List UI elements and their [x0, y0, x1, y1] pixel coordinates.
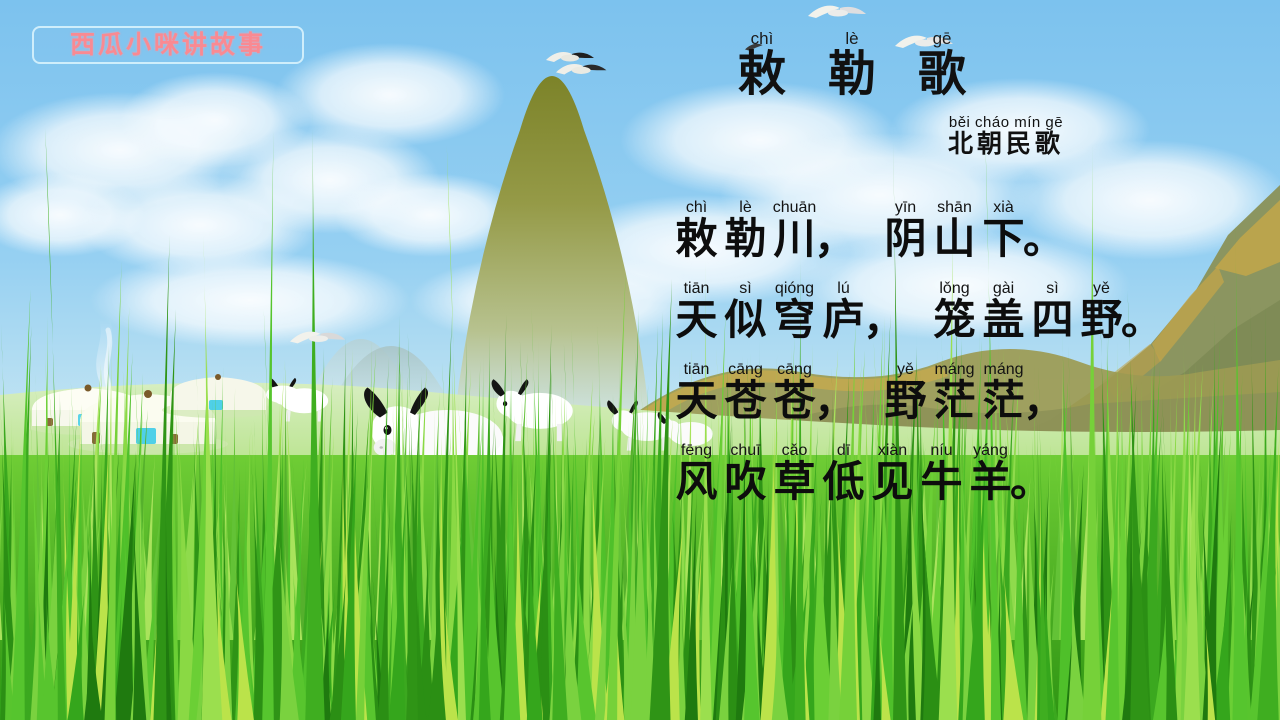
poem-char-pinyin: cāng [728, 361, 763, 380]
poem-char: chuī吹 [721, 442, 770, 505]
poem-punctuation: 。 [1126, 280, 1158, 343]
poem-char-hanzi: ， [814, 218, 856, 262]
poem-segment: tiān天cāng苍cāng苍， [672, 361, 851, 424]
poem-char-pinyin: chì [686, 199, 707, 218]
poem-char-pinyin: cāng [777, 361, 812, 380]
poem-panel: chì 敕 lè 勒 gē 歌 běi cháo mín gē 北朝民歌 chì… [660, 18, 1280, 518]
poem-title: chì 敕 lè 勒 gē 歌 [738, 30, 966, 100]
poem-char-hanzi: 见 [871, 461, 913, 505]
poem-char-pinyin: gài [993, 280, 1014, 299]
poem-char: cǎo草 [770, 442, 819, 505]
poem-char-pinyin: máng [983, 361, 1023, 380]
poem-punctuation: 。 [1028, 199, 1060, 262]
poem-line: fēng风chuī吹cǎo草dī低xiàn见níu牛yáng羊。 [672, 433, 1272, 505]
poem-char-hanzi: 茫 [933, 380, 975, 424]
poem-char-pinyin: qióng [775, 280, 814, 299]
poem-author: běi cháo mín gē 北朝民歌 [948, 114, 1064, 160]
poem-char-hanzi: 低 [822, 461, 864, 505]
poem-char: lǒng笼 [930, 280, 979, 343]
poem-char-pinyin: xià [993, 199, 1013, 218]
poem-char: xiàn见 [868, 442, 917, 505]
poem-segment: yě野máng茫máng茫， [881, 361, 1060, 424]
poem-char-hanzi: 苍 [724, 380, 766, 424]
poem-char-hanzi: 风 [675, 461, 717, 505]
poem-punctuation: ， [819, 199, 851, 262]
poem-char-hanzi: 似 [724, 299, 766, 343]
poem-char: yáng羊 [966, 442, 1015, 505]
poem-char-hanzi: 川 [773, 218, 815, 262]
title-char-pinyin: gē [933, 30, 952, 49]
poem-char: xià下 [979, 199, 1028, 262]
poem-char-hanzi: 庐 [822, 299, 864, 343]
poem-segment: tiān天sì似qióng穹lú庐， [672, 280, 900, 343]
poem-char-hanzi: 。 [1010, 461, 1052, 505]
poem-char: shān山 [930, 199, 979, 262]
poem-char: máng茫 [930, 361, 979, 424]
poem-char-hanzi: 下 [982, 218, 1024, 262]
poem-punctuation: ， [819, 361, 851, 424]
poem-char-pinyin: cǎo [782, 442, 808, 461]
poem-line: tiān天cāng苍cāng苍，yě野máng茫máng茫， [672, 352, 1272, 424]
poem-char-hanzi: 茫 [982, 380, 1024, 424]
poem-char-hanzi: 。 [1023, 218, 1065, 262]
poem-char: chì敕 [672, 199, 721, 262]
poem-char: cāng苍 [770, 361, 819, 424]
title-char-hanzi: 歌 [918, 50, 966, 100]
poem-line: tiān天sì似qióng穹lú庐，lǒng笼gài盖sì四yě野。 [672, 271, 1272, 343]
poem-char: chuān川 [770, 199, 819, 262]
poem-char: níu牛 [917, 442, 966, 505]
poem-char-pinyin: yīn [895, 199, 916, 218]
title-char: lè 勒 [828, 30, 876, 100]
channel-logo-badge[interactable]: 西瓜小咪讲故事 [32, 26, 304, 64]
poem-char: lè勒 [721, 199, 770, 262]
poem-char-pinyin: sì [1046, 280, 1058, 299]
poem-char-hanzi: 笼 [933, 299, 975, 343]
poem-punctuation: 。 [1015, 442, 1047, 505]
poem-char-pinyin: máng [934, 361, 974, 380]
poem-char: yīn阴 [881, 199, 930, 262]
poem-char: dī低 [819, 442, 868, 505]
poem-char: sì似 [721, 280, 770, 343]
poem-char-pinyin: lú [837, 280, 849, 299]
poem-char-hanzi: 天 [675, 380, 717, 424]
poem-segment: lǒng笼gài盖sì四yě野。 [930, 280, 1158, 343]
poem-char-pinyin: yáng [973, 442, 1008, 461]
poem-char: sì四 [1028, 280, 1077, 343]
poem-char-hanzi: 草 [773, 461, 815, 505]
poem-char-hanzi: 山 [933, 218, 975, 262]
poem-char-pinyin: lè [739, 199, 751, 218]
poem-char-hanzi: 敕 [675, 218, 717, 262]
poem-char: máng茫 [979, 361, 1028, 424]
video-frame: 西瓜小咪讲故事 chì 敕 lè 勒 gē 歌 běi cháo mín gē … [0, 0, 1280, 720]
title-char-pinyin: chì [751, 30, 774, 49]
poem-char-pinyin: níu [930, 442, 952, 461]
title-char-pinyin: lè [845, 30, 858, 49]
poem-char-hanzi: 野 [1080, 299, 1122, 343]
poem-char-hanzi: 。 [1121, 299, 1163, 343]
poem-punctuation: ， [868, 280, 900, 343]
poem-char: fēng风 [672, 442, 721, 505]
poem-char: gài盖 [979, 280, 1028, 343]
poem-body: chì敕lè勒chuān川，yīn阴shān山xià下。tiān天sì似qión… [672, 190, 1272, 514]
poem-char-hanzi: 苍 [773, 380, 815, 424]
poem-char: cāng苍 [721, 361, 770, 424]
poem-char: yě野 [881, 361, 930, 424]
author-hanzi: 北朝民歌 [948, 131, 1064, 160]
poem-char-hanzi: 阴 [884, 218, 926, 262]
poem-char-pinyin: sì [739, 280, 751, 299]
poem-char-pinyin: dī [837, 442, 850, 461]
author-pinyin: běi cháo mín gē [948, 114, 1064, 131]
poem-char-hanzi: 四 [1031, 299, 1073, 343]
poem-char-pinyin: yě [897, 361, 914, 380]
poem-char: qióng穹 [770, 280, 819, 343]
channel-logo-text: 西瓜小咪讲故事 [70, 33, 266, 58]
poem-char-hanzi: 天 [675, 299, 717, 343]
poem-char-pinyin: xiàn [878, 442, 907, 461]
poem-char-hanzi: 勒 [724, 218, 766, 262]
poem-char-pinyin: chuī [730, 442, 760, 461]
poem-char-hanzi: ， [863, 299, 905, 343]
title-char: chì 敕 [738, 30, 786, 100]
poem-punctuation: ， [1028, 361, 1060, 424]
title-char-hanzi: 勒 [828, 50, 876, 100]
poem-segment: fēng风chuī吹cǎo草dī低xiàn见níu牛yáng羊。 [672, 442, 1047, 505]
title-char-hanzi: 敕 [738, 50, 786, 100]
poem-char: lú庐 [819, 280, 868, 343]
poem-char-hanzi: ， [814, 380, 856, 424]
poem-char-pinyin: shān [937, 199, 972, 218]
poem-char-pinyin: lǒng [939, 280, 969, 299]
poem-segment: chì敕lè勒chuān川， [672, 199, 851, 262]
poem-char-pinyin: tiān [684, 280, 710, 299]
title-char: gē 歌 [918, 30, 966, 100]
poem-char-hanzi: 野 [884, 380, 926, 424]
poem-char-pinyin: tiān [684, 361, 710, 380]
poem-char-pinyin: fēng [681, 442, 712, 461]
poem-char-hanzi: 羊 [969, 461, 1011, 505]
poem-char-hanzi: 吹 [724, 461, 766, 505]
poem-char-hanzi: ， [1023, 380, 1065, 424]
poem-char: yě野 [1077, 280, 1126, 343]
poem-line: chì敕lè勒chuān川，yīn阴shān山xià下。 [672, 190, 1272, 262]
poem-char-pinyin: yě [1093, 280, 1110, 299]
poem-char-hanzi: 盖 [982, 299, 1024, 343]
poem-char: tiān天 [672, 280, 721, 343]
poem-char: tiān天 [672, 361, 721, 424]
poem-char-pinyin: chuān [773, 199, 817, 218]
poem-char-hanzi: 牛 [920, 461, 962, 505]
poem-char-hanzi: 穹 [773, 299, 815, 343]
poem-segment: yīn阴shān山xià下。 [881, 199, 1060, 262]
